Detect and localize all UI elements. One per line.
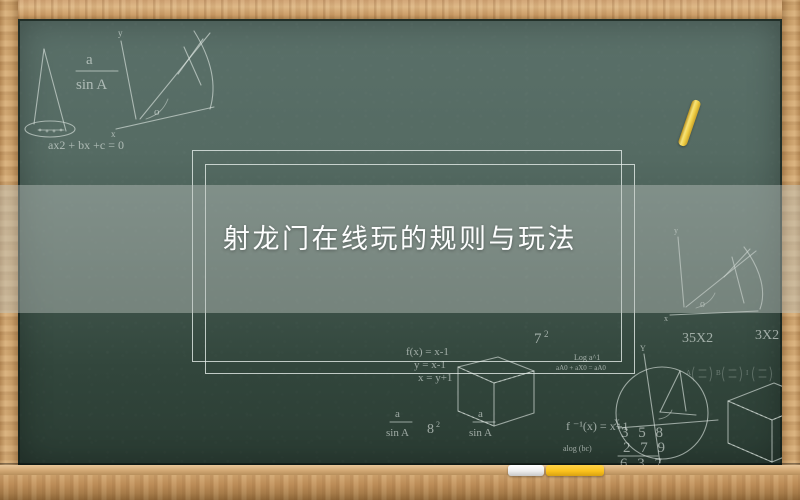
svg-text:2: 2 (436, 420, 440, 429)
frame-top-rail (0, 0, 800, 19)
matrix-notation: A B I (686, 367, 772, 381)
svg-text:sin A: sin A (469, 427, 492, 439)
label-3x2: 3X2 (755, 328, 779, 343)
svg-text:sin A: sin A (386, 427, 409, 439)
svg-text:2 7 9: 2 7 9 (623, 440, 668, 456)
svg-text:o: o (700, 299, 705, 310)
chalkboard-banner: a sin A y x o ax2 (0, 0, 800, 500)
angle-axes-diagram-topleft: y x o (111, 28, 214, 139)
svg-text:x: x (664, 314, 668, 323)
cube-drawing-right (728, 383, 782, 462)
ornament-rectangle-inner (205, 164, 635, 374)
fraction-a-over-sinA-topleft: a sin A (76, 52, 118, 93)
svg-text:a: a (395, 408, 400, 420)
fraction-a-over-sinA-bottom-center: a sin A (469, 408, 495, 439)
svg-text:o: o (154, 106, 160, 118)
svg-text:sin A: sin A (76, 77, 107, 93)
svg-text:X: X (614, 418, 620, 427)
fraction-a-over-sinA-bottom-left: a sin A (386, 408, 412, 439)
svg-text:x: x (111, 129, 116, 139)
svg-text:3 5 8: 3 5 8 (621, 425, 666, 441)
tray-lip (0, 465, 800, 475)
cone-drawing (25, 49, 75, 137)
svg-text:Y: Y (640, 344, 646, 353)
svg-text:I: I (746, 369, 749, 377)
inverse-function-text: f ⁻¹(x) = x+1 (566, 419, 628, 433)
label-35x2: 35X2 (682, 331, 713, 346)
svg-text:y: y (118, 28, 123, 38)
svg-text:B: B (716, 369, 721, 377)
svg-text:A: A (686, 369, 691, 377)
eight-squared: 8 2 (427, 420, 440, 437)
log-bc-label: alog (bc) (563, 444, 592, 453)
svg-text:a: a (478, 408, 483, 420)
quadratic-equation-text: ax2 + bx +c = 0 (48, 138, 124, 152)
chalk-stick-yellow (677, 99, 701, 147)
page-title: 射龙门在线玩的规则与玩法 (0, 224, 800, 256)
tray-chalk-yellow (546, 465, 604, 476)
tray-chalk-white (508, 465, 544, 476)
svg-text:8: 8 (427, 422, 434, 437)
column-addition: 3 5 8 2 7 9 6 3 7 (618, 425, 668, 466)
svg-text:a: a (86, 52, 93, 68)
